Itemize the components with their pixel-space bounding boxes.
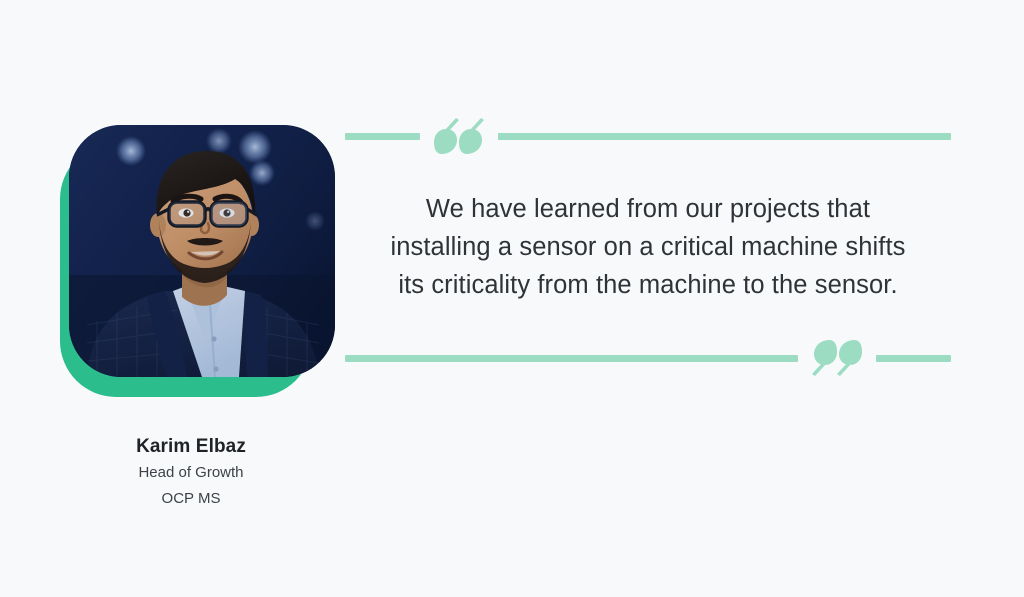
- divider-rule-short: [345, 133, 420, 140]
- author-photo-wrapper: [60, 125, 335, 397]
- quote-line: installing a sensor on a critical machin…: [390, 233, 905, 261]
- author-name: Karim Elbaz: [60, 435, 322, 460]
- author-attribution: Karim Elbaz Head of Growth OCP MS: [60, 435, 322, 512]
- testimonial-card: Karim Elbaz Head of Growth OCP MS We hav…: [0, 0, 1024, 597]
- author-block: Karim Elbaz Head of Growth OCP MS: [60, 125, 335, 512]
- portrait-illustration: [69, 125, 335, 377]
- quote-block: We have learned from our projects that i…: [345, 118, 951, 376]
- quote-text: We have learned from our projects that i…: [345, 190, 951, 304]
- quote-text-wrapper: We have learned from our projects that i…: [345, 154, 951, 340]
- divider-rule-short: [876, 355, 951, 362]
- quote-close-icon: [812, 340, 862, 376]
- quote-line: We have learned from our projects that: [426, 195, 870, 223]
- avatar: [69, 125, 335, 377]
- quote-line: its criticality from the machine to the …: [398, 271, 897, 299]
- quote-open-icon: [434, 118, 484, 154]
- author-role: Head of Growth: [60, 460, 322, 486]
- quote-divider-bottom: [345, 340, 951, 376]
- divider-rule-long: [345, 355, 798, 362]
- divider-rule-long: [498, 133, 951, 140]
- quote-divider-top: [345, 118, 951, 154]
- author-organization: OCP MS: [60, 486, 322, 512]
